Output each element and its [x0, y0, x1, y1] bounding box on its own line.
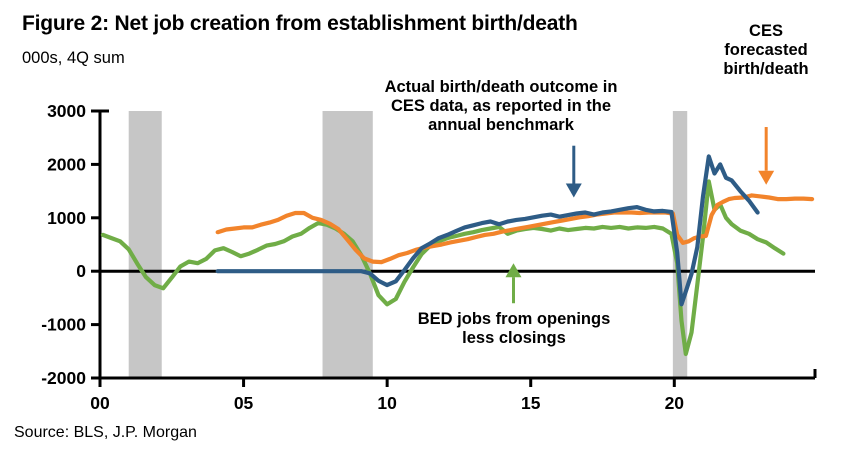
source-label: Source: BLS, J.P. Morgan — [14, 424, 197, 442]
y-tick-label-2000: 2000 — [47, 154, 86, 174]
annotation-blue-label: Actual birth/death outcome in CES data, … — [370, 78, 632, 135]
orange-arrow-head — [758, 171, 774, 185]
recession-band-recession-2008 — [323, 111, 373, 378]
recession-band-recession-2001 — [129, 111, 162, 378]
blue-arrow-head — [566, 184, 582, 198]
x-tick-label-05: 05 — [234, 393, 254, 413]
y-tick-label-1000: 1000 — [47, 208, 86, 228]
y-tick-label--2000: -2000 — [41, 368, 86, 388]
x-tick-label-10: 10 — [377, 393, 397, 413]
y-tick-label-0: 0 — [76, 261, 86, 281]
x-tick-label-20: 20 — [665, 393, 685, 413]
x-tick-label-00: 00 — [90, 393, 110, 413]
x-tick-label-15: 15 — [521, 393, 541, 413]
y-tick-label--1000: -1000 — [41, 315, 86, 335]
annotation-orange-label: CES forecasted birth/death — [706, 22, 826, 79]
y-tick-label-3000: 3000 — [47, 101, 86, 121]
annotation-green-label: BED jobs from openings less closings — [404, 310, 624, 348]
